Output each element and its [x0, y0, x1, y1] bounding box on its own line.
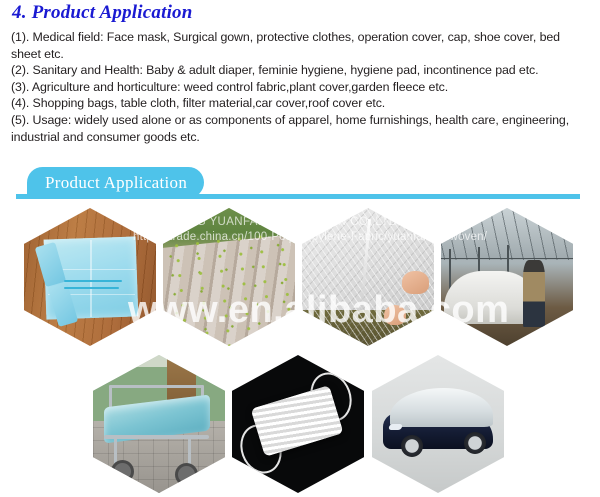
section-banner: Product Application [0, 167, 600, 203]
hex-tile-surgical-gown[interactable] [24, 208, 156, 346]
hex-tile-plant-cover-fleece[interactable] [302, 208, 434, 346]
car-cover-image [372, 355, 504, 493]
hex-tile-greenhouse-crop-cover[interactable] [441, 208, 573, 346]
description-line: (3). Agriculture and horticulture: weed … [11, 79, 591, 96]
face-mask-image [232, 355, 364, 493]
stretcher-bed-sheet-image [93, 355, 225, 493]
description-line: (1). Medical field: Face mask, Surgical … [11, 29, 591, 62]
greenhouse-crop-cover-image [441, 208, 573, 346]
banner-pill-label: Product Application [45, 173, 187, 193]
description-line: (5). Usage: widely used alone or as comp… [11, 112, 591, 145]
hex-tile-face-mask[interactable] [232, 355, 364, 493]
hex-tile-car-cover[interactable] [372, 355, 504, 493]
hex-tile-weed-control-fabric[interactable] [163, 208, 295, 346]
hex-tile-stretcher-bed-sheet[interactable] [93, 355, 225, 493]
page-title: 4. Product Application [12, 2, 193, 24]
surgical-gown-image [24, 208, 156, 346]
product-application-description: (1). Medical field: Face mask, Surgical … [11, 29, 591, 145]
hexagon-image-gallery: ZHEJIANG YUANFAN NON-WOVEN CO.,LTD. http… [0, 203, 600, 497]
description-line: (2). Sanitary and Health: Baby & adult d… [11, 62, 591, 79]
description-line: (4). Shopping bags, table cloth, filter … [11, 95, 591, 112]
plant-cover-fleece-image [302, 208, 434, 346]
weed-control-fabric-image [163, 208, 295, 346]
banner-pill: Product Application [27, 167, 204, 198]
